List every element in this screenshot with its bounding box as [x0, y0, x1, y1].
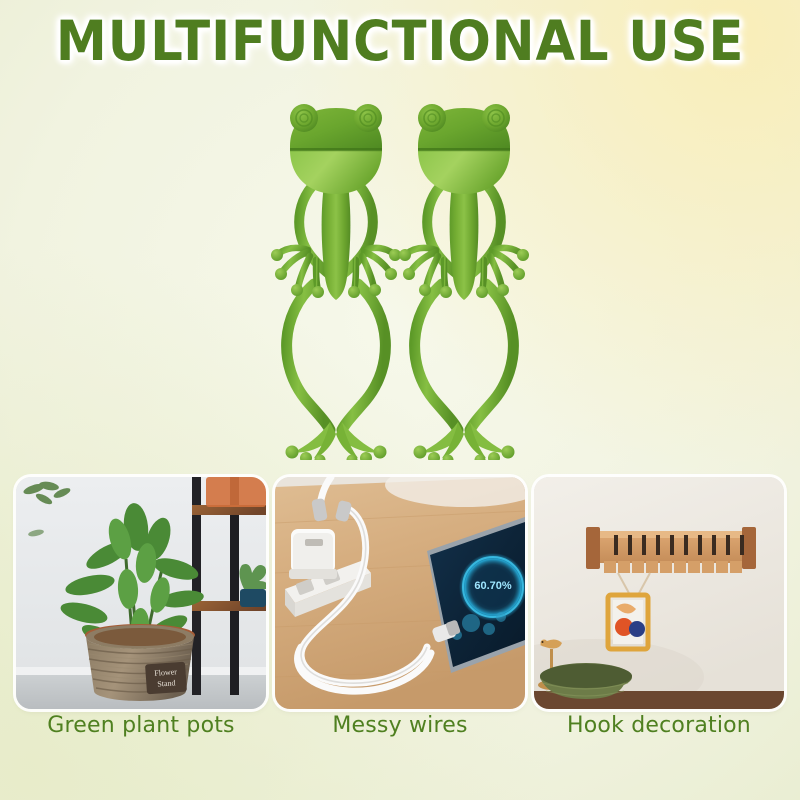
title-block: MULTIFUNCTIONAL USE: [0, 14, 800, 69]
tag-line2: Stand: [157, 678, 176, 688]
caption-messy-wires: Messy wires: [275, 713, 525, 738]
phone-battery-readout: 60.70%: [474, 580, 512, 592]
caption-green-plant-pots: Green plant pots: [16, 713, 266, 738]
caption-hook-decoration: Hook decoration: [534, 713, 784, 738]
usecase-gallery: Flower Stand: [0, 477, 800, 709]
usecase-photo-green-plant-pots[interactable]: Flower Stand: [16, 477, 266, 709]
frog-hook-right: [396, 100, 532, 460]
frog-hook-left: [268, 100, 404, 460]
frog-head: [418, 104, 510, 194]
usb-charger: [289, 529, 337, 579]
wall-coat-rack: [586, 527, 756, 573]
usecase-photo-messy-wires[interactable]: 60.70%: [275, 477, 525, 709]
frog-legs: [286, 284, 387, 460]
basket-label-tag: Flower Stand: [145, 662, 187, 695]
frog-head: [290, 104, 382, 194]
frog-legs: [414, 284, 515, 460]
page-title: MULTIFUNCTIONAL USE: [56, 14, 744, 69]
usecase-photo-hook-decoration[interactable]: [534, 477, 784, 709]
tag-line1: Flower: [154, 667, 178, 678]
usecase-captions: Green plant pots Messy wires Hook decora…: [0, 713, 800, 753]
product-hero: [0, 100, 800, 470]
infographic-page: MULTIFUNCTIONAL USE: [0, 0, 800, 800]
